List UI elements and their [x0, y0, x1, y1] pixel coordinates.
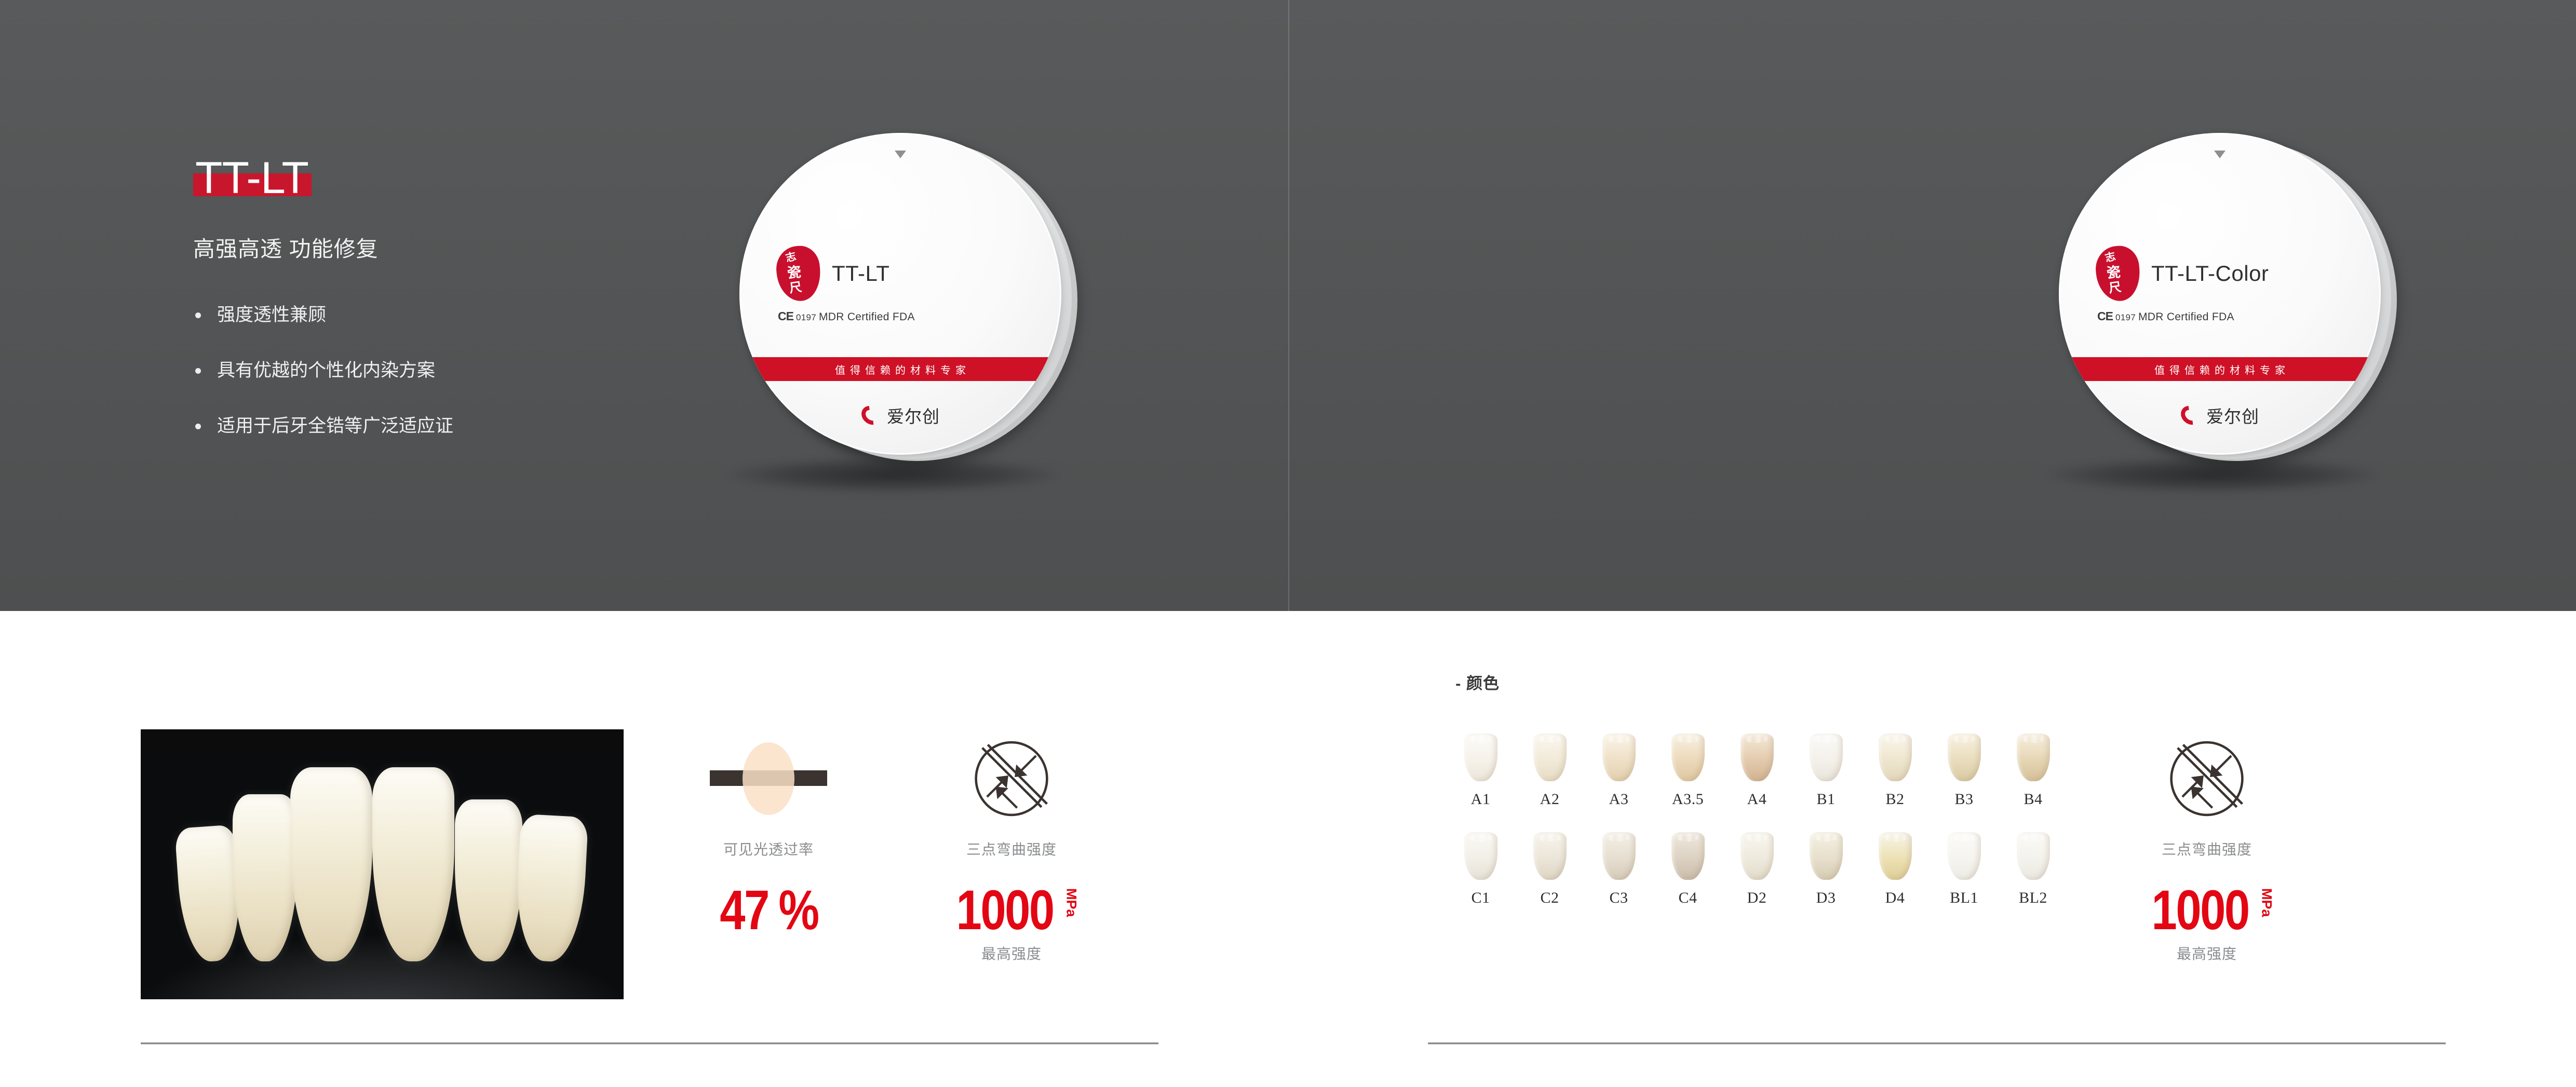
disc-shadow	[727, 457, 1059, 493]
tooth-icon	[2017, 832, 2050, 880]
ce-mark-icon: CE	[2097, 309, 2113, 323]
shade-row-1: A1 A2 A3 A3.5 A4	[1446, 733, 2068, 808]
tooth-icon	[1533, 832, 1567, 880]
tooth-icon	[1533, 733, 1567, 781]
tooth-icon	[1810, 832, 1843, 880]
metric-value: 47 %	[691, 886, 846, 934]
list-item: 具有优越的个性化内染方案	[193, 361, 453, 379]
shade-label: B2	[1860, 791, 1930, 808]
shade-swatch-b2[interactable]: B2	[1860, 733, 1930, 808]
product-disc-right: 志 瓷 尺 TT-LT-Color CE 0197 MDR Certified …	[2015, 0, 2410, 611]
shade-label: D4	[1860, 889, 1930, 907]
disc-brand-row: 志 瓷 尺 TT-LT	[777, 246, 889, 301]
translucency-disc	[743, 742, 794, 815]
product-comparison-page: TT-LT 高强高透 功能修复 强度透性兼顾 具有优越的个性化内染方案 适用于后…	[0, 0, 2576, 1087]
shade-swatch-c2[interactable]: C2	[1515, 832, 1584, 907]
tooth-icon	[1602, 733, 1636, 781]
shade-label: D3	[1791, 889, 1860, 907]
product-title-left: TT-LT	[193, 156, 312, 200]
section-divider-left	[141, 1042, 1158, 1044]
list-item: 强度透性兼顾	[193, 306, 453, 324]
disc-slogan: 值得信赖的材料专家	[830, 362, 970, 377]
disc-certification-line: CE 0197 MDR Certified FDA	[778, 309, 915, 323]
clinical-result-photo	[141, 729, 624, 999]
swoosh-icon	[2180, 406, 2201, 424]
chinese-seal-icon: 志 瓷 尺	[2096, 246, 2140, 301]
shade-guide: A1 A2 A3 A3.5 A4	[1446, 733, 2068, 931]
shade-swatch-bl1[interactable]: BL1	[1930, 832, 1999, 907]
shade-label: B4	[1999, 791, 2068, 808]
shade-swatch-b4[interactable]: B4	[1999, 733, 2068, 808]
list-item: 适用于后牙全锆等广泛适应证	[193, 417, 453, 435]
seal-char: 瓷	[787, 265, 802, 280]
lower-content-area: 可见光透过率 47 %	[0, 611, 2576, 1087]
shade-label: C3	[1584, 889, 1653, 907]
shade-label: A3.5	[1653, 791, 1722, 808]
metric-icon-slot	[691, 729, 846, 828]
tooth-icon	[1464, 733, 1498, 781]
disc-brand-logo: 爱尔创	[2059, 403, 2381, 428]
shade-swatch-d3[interactable]: D3	[1791, 832, 1860, 907]
swoosh-icon	[861, 406, 882, 424]
shade-swatch-d4[interactable]: D4	[1860, 832, 1930, 907]
disc-model-name: TT-LT	[832, 261, 889, 286]
shade-swatch-c3[interactable]: C3	[1584, 832, 1653, 907]
shade-label: D2	[1722, 889, 1791, 907]
shade-swatch-a2[interactable]: A2	[1515, 733, 1584, 808]
feature-text: 强度透性兼顾	[217, 305, 326, 325]
tooth-icon	[1671, 832, 1705, 880]
disc-top-face: 志 瓷 尺 TT-LT CE 0197 MDR Certified FDA 值得…	[739, 133, 1061, 455]
ce-number: 0197	[796, 312, 816, 323]
tooth-icon	[1671, 733, 1705, 781]
metric-value: 1000 MPa	[934, 886, 1089, 934]
metric-flexural-strength: 三点弯曲强度 1000 MPa 最高强度	[2129, 729, 2285, 963]
brand-name: 爱尔创	[887, 403, 940, 428]
product-disc-left: 志 瓷 尺 TT-LT CE 0197 MDR Certified FDA 值得…	[696, 0, 1090, 611]
metric-unit: MPa	[2261, 888, 2273, 917]
tooth-icon	[1464, 832, 1498, 880]
disc-red-band: 值得信赖的材料专家	[2059, 357, 2381, 381]
shade-row-2: C1 C2 C3 C4 D2	[1446, 832, 2068, 907]
shade-swatch-a4[interactable]: A4	[1722, 733, 1791, 808]
disc-red-band: 值得信赖的材料专家	[739, 357, 1061, 381]
metric-label: 三点弯曲强度	[934, 838, 1089, 859]
disc-model-name: TT-LT-Color	[2151, 261, 2269, 286]
metric-icon-slot	[934, 729, 1089, 828]
disc-brand-logo: 爱尔创	[739, 403, 1061, 428]
shade-label: C4	[1653, 889, 1722, 907]
shade-swatch-b1[interactable]: B1	[1791, 733, 1860, 808]
tooth-icon	[1948, 733, 1981, 781]
metric-value: 1000 MPa	[2129, 886, 2285, 934]
shade-label: C2	[1515, 889, 1584, 907]
shade-swatch-a3[interactable]: A3	[1584, 733, 1653, 808]
metric-unit-inline: %	[778, 886, 818, 934]
tooth-icon	[1948, 832, 1981, 880]
flexural-strength-icon	[972, 739, 1051, 818]
flexural-strength-icon	[2167, 739, 2246, 818]
metric-number: 47	[720, 886, 769, 934]
bullet-dot-icon	[195, 312, 201, 318]
translucency-icon	[710, 737, 827, 820]
shade-label: B1	[1791, 791, 1860, 808]
tooth-icon	[1741, 733, 1774, 781]
shade-swatch-a35[interactable]: A3.5	[1653, 733, 1722, 808]
feature-text: 具有优越的个性化内染方案	[217, 360, 435, 381]
metric-sublabel: 最高强度	[2129, 943, 2285, 963]
shade-label: BL2	[1999, 889, 2068, 907]
metric-icon-slot	[2129, 729, 2285, 828]
feature-text: 适用于后牙全锆等广泛适应证	[217, 416, 453, 436]
seal-char: 尺	[788, 280, 802, 294]
tooth-icon	[1879, 832, 1912, 880]
tooth-icon	[1602, 832, 1636, 880]
disc-shadow	[2046, 457, 2379, 493]
feature-list-left: 强度透性兼顾 具有优越的个性化内染方案 适用于后牙全锆等广泛适应证	[193, 306, 453, 435]
shade-label: A2	[1515, 791, 1584, 808]
section-divider-right	[1428, 1042, 2446, 1044]
ce-mark-icon: CE	[778, 309, 793, 323]
shade-label: A1	[1446, 791, 1515, 808]
product-subtitle-left: 高强高透 功能修复	[193, 232, 453, 263]
tooth-icon	[1741, 832, 1774, 880]
metrics-group-left: 可见光透过率 47 %	[691, 729, 1089, 963]
chinese-seal-icon: 志 瓷 尺	[777, 246, 820, 301]
tooth-icon	[1810, 733, 1843, 781]
metrics-group-right: 三点弯曲强度 1000 MPa 最高强度	[2129, 729, 2285, 963]
shade-section-heading: - 颜色	[1455, 670, 1500, 694]
shade-label: B3	[1930, 791, 1999, 808]
shade-label: C1	[1446, 889, 1515, 907]
brand-name: 爱尔创	[2206, 403, 2259, 428]
hero-panel-tt-lt-color: TT-LT-Color 预染通透 功能修复 预染色, 操作简单, 稳定高效 强度…	[1288, 0, 2576, 611]
metric-unit: MPa	[1066, 888, 1077, 917]
seal-char: 尺	[2108, 280, 2122, 294]
shade-label: BL1	[1930, 889, 1999, 907]
ce-number: 0197	[2115, 312, 2136, 323]
cert-text: MDR Certified FDA	[2138, 311, 2234, 323]
triangle-marker-icon	[895, 151, 906, 158]
product-title-text: TT-LT	[195, 153, 308, 203]
shade-swatch-c1[interactable]: C1	[1446, 832, 1515, 907]
metric-sublabel: 最高强度	[934, 943, 1089, 963]
shade-label: A4	[1722, 791, 1791, 808]
shade-swatch-bl2[interactable]: BL2	[1999, 832, 2068, 907]
shade-swatch-a1[interactable]: A1	[1446, 733, 1515, 808]
shade-label: A3	[1584, 791, 1653, 808]
disc-certification-line: CE 0197 MDR Certified FDA	[2097, 309, 2234, 323]
disc-brand-row: 志 瓷 尺 TT-LT-Color	[2096, 246, 2269, 301]
shade-swatch-b3[interactable]: B3	[1930, 733, 1999, 808]
shade-swatch-d2[interactable]: D2	[1722, 832, 1791, 907]
tooth-icon	[2017, 733, 2050, 781]
hero-panel-tt-lt: TT-LT 高强高透 功能修复 强度透性兼顾 具有优越的个性化内染方案 适用于后…	[0, 0, 1288, 611]
hero-text-block-left: TT-LT 高强高透 功能修复 强度透性兼顾 具有优越的个性化内染方案 适用于后…	[193, 156, 453, 435]
metric-translucency: 可见光透过率 47 %	[691, 729, 846, 963]
disc-slogan: 值得信赖的材料专家	[2150, 362, 2290, 377]
metric-label: 三点弯曲强度	[2129, 838, 2285, 859]
cert-text: MDR Certified FDA	[819, 311, 915, 323]
triangle-marker-icon	[2214, 151, 2226, 158]
disc-top-face: 志 瓷 尺 TT-LT-Color CE 0197 MDR Certified …	[2059, 133, 2381, 455]
metric-number: 1000	[956, 886, 1054, 934]
metric-number: 1000	[2152, 886, 2249, 934]
bullet-dot-icon	[195, 424, 201, 429]
metric-label: 可见光透过率	[691, 838, 846, 859]
metric-flexural-strength: 三点弯曲强度 1000 MPa 最高强度	[934, 729, 1089, 963]
tooth-icon	[1879, 733, 1912, 781]
bullet-dot-icon	[195, 368, 201, 374]
seal-char: 瓷	[2106, 265, 2121, 280]
shade-swatch-c4[interactable]: C4	[1653, 832, 1722, 907]
